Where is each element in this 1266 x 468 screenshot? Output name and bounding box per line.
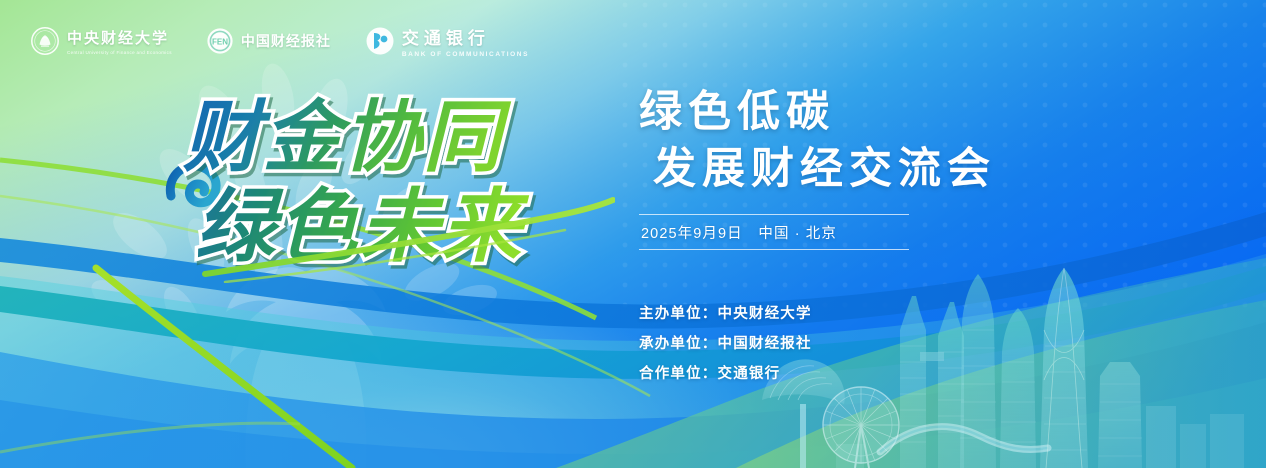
logo-bocom-cn: 交通银行 [402,24,529,49]
logo-fen[interactable]: FEN 中国财经报社 [206,27,331,55]
logo-cufe-en: Central University of Finance and Econom… [67,50,172,55]
university-seal-icon [30,26,60,56]
logo-fen-cn: 中国财经报社 [241,31,331,51]
main-title-line2: 发展财经交流会 [639,141,1159,198]
svg-text:FEN: FEN [212,37,228,46]
rule-bottom [639,249,909,250]
logo-bocom-en: BANK OF COMMUNICATIONS [402,51,529,58]
organizer-host: 主办单位：中央财经大学 [639,300,1159,330]
logo-cufe-cn: 中央财经大学 [67,27,172,48]
organizer-partner: 合作单位：交通银行 [639,360,1159,390]
main-title-line1: 绿色低碳 [639,84,1159,141]
organizer-coorganizer-role: 承办单位： [639,336,718,352]
date-location-text: 2025年9月9日 中国 · 北京 [639,215,909,249]
logo-bocom[interactable]: 交通银行 BANK OF COMMUNICATIONS [365,24,529,58]
bocom-logo-icon [365,26,395,56]
fen-circle-icon: FEN [206,27,234,55]
svg-text:财金协同: 财金协同 [183,93,512,181]
logo-cufe[interactable]: 中央财经大学 Central University of Finance and… [30,26,172,56]
organizer-host-role: 主办单位： [639,306,718,322]
organizer-partner-name: 交通银行 [718,366,781,382]
date-location-block: 2025年9月9日 中国 · 北京 [639,214,909,250]
organizer-host-name: 中央财经大学 [718,306,812,322]
hero-line2: 绿色未来 [195,182,530,271]
sponsor-logo-bar: 中央财经大学 Central University of Finance and… [30,24,529,58]
event-banner: 中央财经大学 Central University of Finance and… [0,0,1266,468]
organizer-coorganizer: 承办单位：中国财经报社 [639,330,1159,360]
organizer-coorganizer-name: 中国财经报社 [718,336,812,352]
hero-line1: 财金协同 [183,93,512,181]
hero-title-lockup: 财金协同 绿色未来 [165,78,615,283]
event-info-column: 绿色低碳 发展财经交流会 2025年9月9日 中国 · 北京 主办单位：中央财经… [639,84,1159,390]
organizer-partner-role: 合作单位： [639,366,718,382]
organizers-block: 主办单位：中央财经大学 承办单位：中国财经报社 合作单位：交通银行 [639,300,1159,389]
svg-text:绿色未来: 绿色未来 [195,182,530,271]
